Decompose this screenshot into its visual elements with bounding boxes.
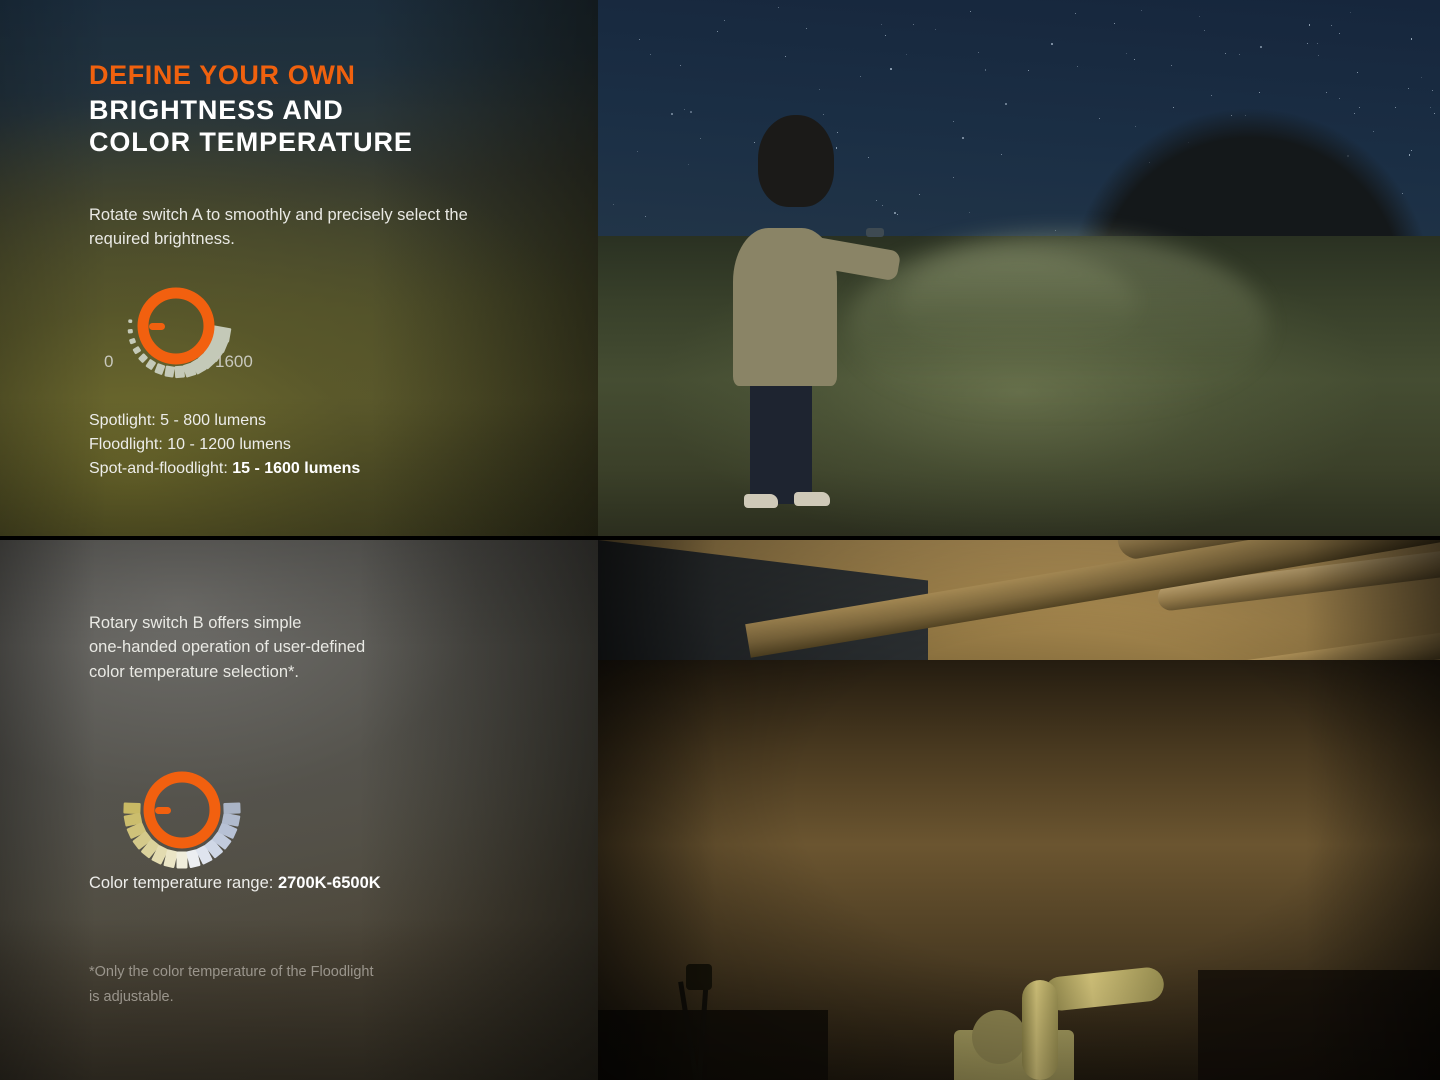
color-temperature-description: Rotary switch B offers simple one-handed… — [89, 611, 529, 684]
dial-tick — [177, 852, 188, 869]
color-temperature-description-line-3: color temperature selection*. — [89, 660, 529, 684]
star — [894, 212, 896, 214]
star — [613, 204, 614, 205]
person-shoe — [744, 494, 778, 508]
infographic-page: DEFINE YOUR OWN BRIGHTNESS AND COLOR TEM… — [0, 0, 1440, 1080]
lumens-row: Floodlight: 10 - 1200 lumens — [89, 433, 360, 457]
lumens-value-spot-and-floodlight: 15 - 1600 lumens — [232, 460, 360, 477]
brightness-description: Rotate switch A to smoothly and precisel… — [89, 203, 519, 252]
brightness-dial-max-label: 1600 — [215, 352, 253, 372]
star — [690, 111, 692, 113]
flashlight-beam-core — [898, 250, 1138, 360]
color-temperature-range: Color temperature range: 2700K-6500K — [89, 874, 381, 893]
headline-accent: DEFINE YOUR OWN — [89, 60, 413, 91]
star — [906, 54, 907, 55]
star — [1432, 90, 1433, 91]
star — [860, 76, 861, 77]
color-temperature-range-value: 2700K-6500K — [278, 874, 381, 892]
star — [778, 7, 779, 8]
brightness-dial-indicator — [149, 323, 165, 330]
page-title: DEFINE YOUR OWN BRIGHTNESS AND COLOR TEM… — [89, 60, 413, 158]
star — [1077, 66, 1078, 67]
lumens-label-spotlight: Spotlight: — [89, 412, 156, 429]
color-temperature-description-line-2: one-handed operation of user-defined — [89, 635, 529, 659]
dial-tick — [145, 359, 156, 371]
dial-tick — [128, 319, 132, 323]
color-temperature-dial-indicator — [155, 807, 171, 814]
extraction-pipe — [1022, 980, 1058, 1080]
person-shoe — [794, 492, 830, 506]
lumens-row: Spotlight: 5 - 800 lumens — [89, 409, 360, 433]
night-field-photo — [598, 0, 1440, 536]
color-temperature-dial[interactable] — [104, 735, 294, 855]
brightness-panel: DEFINE YOUR OWN BRIGHTNESS AND COLOR TEM… — [0, 0, 598, 536]
dial-tick — [164, 365, 174, 377]
machine-wheel — [972, 1010, 1026, 1064]
star — [717, 31, 718, 32]
person-legs — [750, 368, 812, 504]
color-temperature-range-label: Color temperature range: — [89, 874, 273, 892]
star — [837, 132, 838, 133]
headline-line-2: COLOR TEMPERATURE — [89, 127, 413, 158]
dial-tick — [223, 802, 240, 814]
dial-tick — [138, 353, 148, 363]
lumens-value-spotlight: 5 - 800 lumens — [160, 412, 266, 429]
star — [919, 194, 920, 195]
star — [978, 52, 979, 53]
lumens-row: Spot-and-floodlight: 15 - 1600 lumens — [89, 457, 360, 481]
brightness-dial-min-label: 0 — [104, 352, 113, 372]
star — [935, 29, 936, 30]
star — [645, 216, 646, 217]
lumens-value-floodlight: 10 - 1200 lumens — [167, 436, 291, 453]
person-head — [758, 115, 834, 207]
brightness-dial[interactable] — [96, 262, 286, 377]
footnote-line-1: *Only the color temperature of the Flood… — [89, 960, 374, 985]
dial-tick — [123, 802, 140, 814]
flashlight-device — [866, 228, 884, 237]
lumens-label-floodlight: Floodlight: — [89, 436, 163, 453]
star — [1339, 33, 1340, 34]
star — [962, 137, 964, 139]
dial-tick — [132, 346, 141, 355]
dial-tick — [128, 329, 133, 334]
star — [819, 89, 820, 90]
workshop-interior-photo — [598, 540, 1440, 1080]
star — [684, 109, 685, 110]
star — [724, 20, 725, 21]
star — [1051, 43, 1053, 45]
tripod-head — [686, 964, 712, 990]
background-wall — [598, 1010, 828, 1080]
background-wall — [1198, 970, 1440, 1080]
headline-line-1: BRIGHTNESS AND — [89, 95, 413, 126]
star — [671, 113, 673, 115]
footnote-line-2: is adjustable. — [89, 985, 374, 1010]
lumens-output-list: Spotlight: 5 - 800 lumens Floodlight: 10… — [89, 409, 360, 480]
brightness-dial-graphic — [96, 262, 286, 377]
star — [650, 54, 651, 55]
star — [754, 142, 755, 143]
dial-tick — [154, 363, 165, 375]
lumens-label-spot-and-floodlight: Spot-and-floodlight: — [89, 460, 228, 477]
dial-tick — [129, 338, 136, 345]
footnote: *Only the color temperature of the Flood… — [89, 960, 374, 1010]
color-temperature-description-line-1: Rotary switch B offers simple — [89, 611, 529, 635]
color-temperature-dial-graphic — [104, 735, 294, 855]
star — [953, 177, 954, 178]
